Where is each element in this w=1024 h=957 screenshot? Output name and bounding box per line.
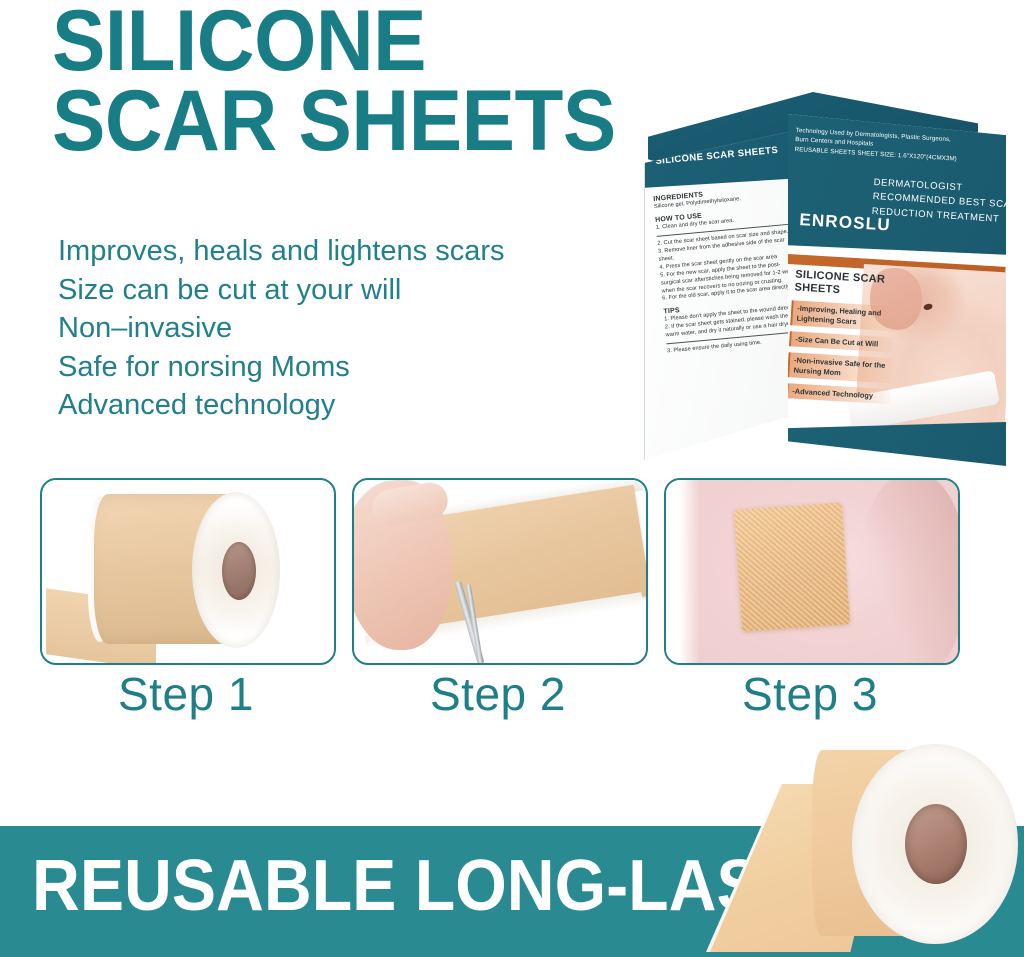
page-title: SILICONE SCAR SHEETS bbox=[52, 2, 672, 162]
front-panel-text-area: SILICONE SCAR SHEETS -Improving, Healing… bbox=[788, 262, 896, 444]
steps-section: Step 1 Step 2 Step 3 bbox=[0, 478, 1024, 728]
benefit-item: Improves, heals and lightens scars bbox=[58, 232, 658, 271]
benefit-item: Size can be cut at your will bbox=[58, 271, 658, 310]
benefit-item: Non–invasive bbox=[58, 309, 658, 348]
front-feature-list: -Improving, Healing and Lightening Scars… bbox=[788, 300, 896, 410]
step-card-3: Step 3 bbox=[664, 478, 956, 721]
front-feature-item: -Improving, Healing and Lightening Scars bbox=[790, 300, 895, 331]
headline-line-1: SILICONE bbox=[52, 2, 629, 82]
tape-roll-core bbox=[905, 804, 967, 884]
step-2-image bbox=[352, 478, 648, 665]
tape-roll-core bbox=[222, 542, 256, 600]
photo-white-edge bbox=[666, 480, 700, 663]
package-side-panel: SILICONE SCAR SHEETS INGREDIENTS Silicon… bbox=[644, 130, 797, 460]
tip-item: 3. Please ensure the daily using time. bbox=[667, 336, 797, 357]
benefit-list: Improves, heals and lightens scars Size … bbox=[58, 232, 658, 425]
step-card-1: Step 1 bbox=[40, 478, 332, 721]
navel-shape bbox=[923, 303, 933, 311]
front-panel-claim: DERMATOLOGIST RECOMMENDED BEST SCAR REDU… bbox=[871, 176, 1006, 228]
benefit-item: Safe for norsing Moms bbox=[58, 348, 658, 387]
bottom-tape-roll-image bbox=[702, 742, 1024, 957]
applied-silicone-sheet bbox=[734, 502, 850, 631]
step-1-image bbox=[40, 478, 336, 665]
product-infographic: SILICONE SCAR SHEETS Improves, heals and… bbox=[0, 0, 1024, 957]
package-front-panel: ENROSLU DERMATOLOGIST RECOMMENDED BEST S… bbox=[788, 114, 1006, 466]
benefit-item: Advanced technology bbox=[58, 386, 658, 425]
step-1-label: Step 1 bbox=[40, 667, 332, 721]
front-product-title: SILICONE SCAR SHEETS bbox=[794, 268, 891, 300]
step-3-label: Step 3 bbox=[664, 667, 956, 721]
side-panel-body: INGREDIENTS Silicone gel, Polydimethylsi… bbox=[653, 183, 797, 356]
product-package-image: SILICONE SCAR SHEETS INGREDIENTS Silicon… bbox=[640, 92, 1010, 472]
front-feature-item: -Non-invasive Safe for the Nursing Mom bbox=[788, 352, 892, 383]
front-feature-item: -Size Can Be Cut at Will bbox=[789, 331, 894, 353]
front-panel-footer-band bbox=[788, 422, 1006, 466]
step-card-2: Step 2 bbox=[352, 478, 644, 721]
headline-line-2: SCAR SHEETS bbox=[52, 82, 629, 162]
step-3-image bbox=[664, 478, 960, 665]
step-2-label: Step 2 bbox=[352, 667, 644, 721]
skin-shadow bbox=[858, 478, 960, 665]
front-feature-item: -Advanced Technology bbox=[788, 383, 891, 405]
